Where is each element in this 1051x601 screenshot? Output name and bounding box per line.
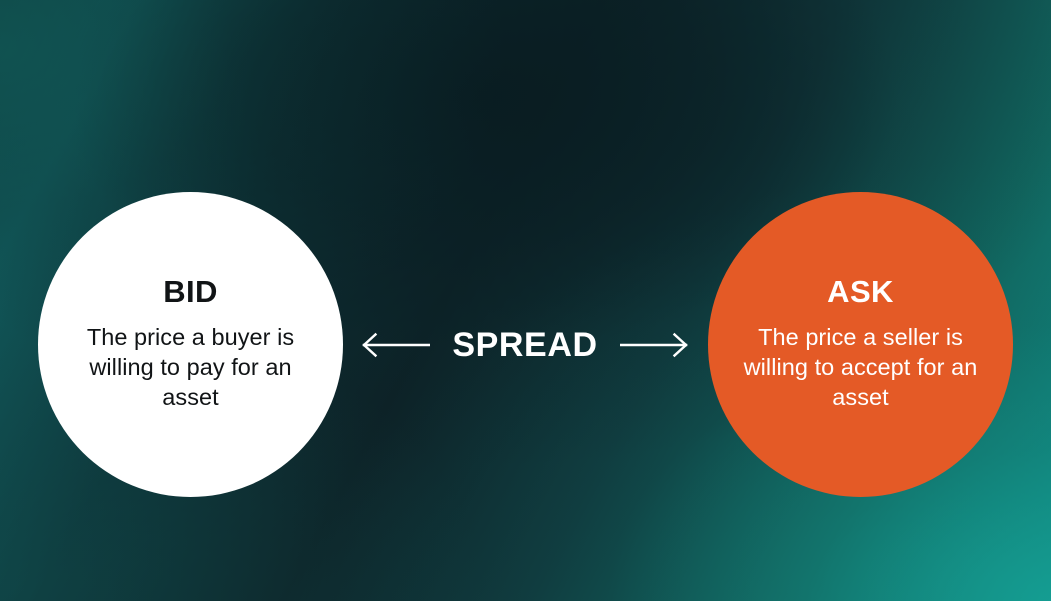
bid-title: BID [163, 276, 218, 307]
diagram-canvas: BID The price a buyer is willing to pay … [0, 0, 1051, 601]
bid-description: The price a buyer is willing to pay for … [60, 323, 322, 413]
ask-description: The price a seller is willing to accept … [725, 323, 997, 413]
spread-label: SPREAD [452, 328, 597, 362]
ask-circle: ASK The price a seller is willing to acc… [708, 192, 1013, 497]
ask-title: ASK [827, 276, 894, 307]
bid-circle: BID The price a buyer is willing to pay … [38, 192, 343, 497]
arrow-left-icon [360, 330, 430, 360]
spread-group: SPREAD [360, 318, 690, 372]
arrow-right-icon [620, 330, 690, 360]
